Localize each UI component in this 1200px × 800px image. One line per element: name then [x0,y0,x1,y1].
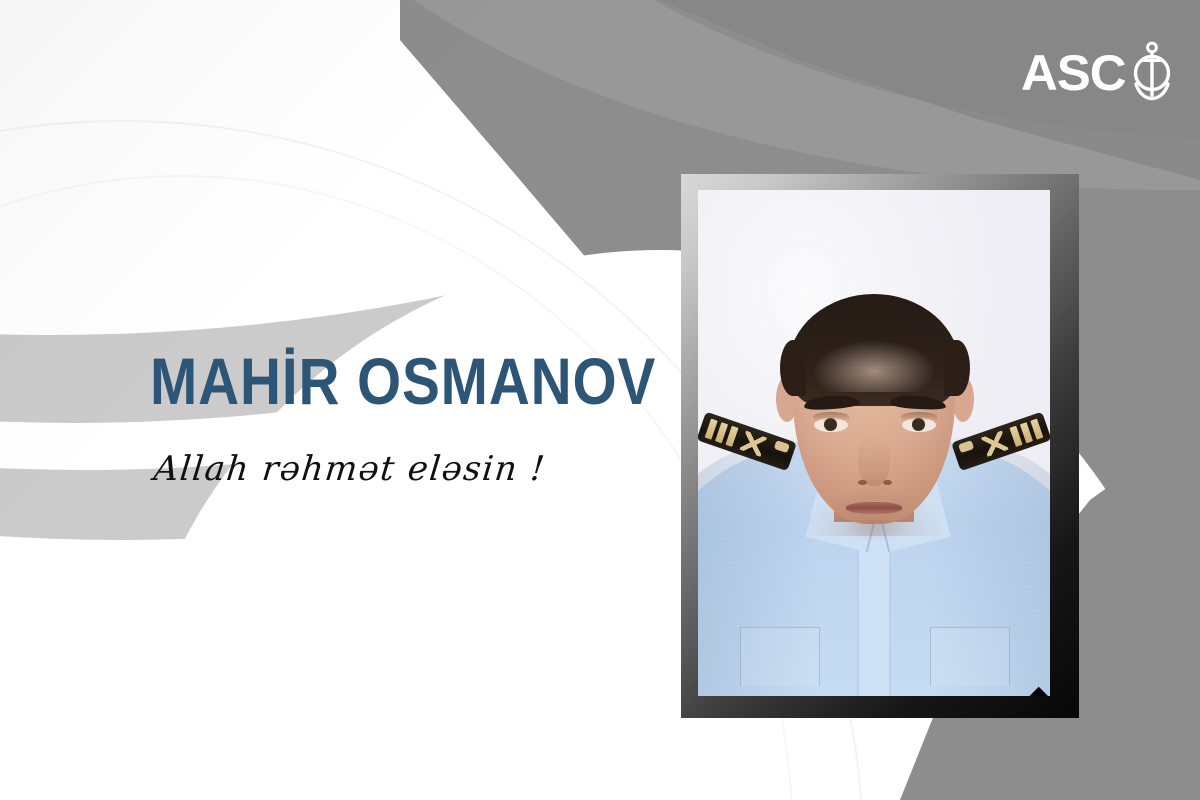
asco-logo[interactable]: ASC [1022,42,1178,104]
portrait-frame [681,174,1079,718]
anchor-o-icon [1126,40,1178,107]
photo-grain-overlay [698,190,1050,696]
portrait-photo [698,190,1050,696]
condolence-message: Allah rəhmət eləsin ! [152,452,712,486]
memorial-text-block: MAHİR OSMANOV Allah rəhmət eləsin ! [150,348,710,486]
asco-wordmark: ASC [1021,48,1126,98]
portrait-illustration [698,190,1050,696]
deceased-name: MAHİR OSMANOV [150,348,632,414]
memorial-poster: ASC MAHİR OSMANOV Allah rəhmət eləsin ! [0,0,1200,800]
